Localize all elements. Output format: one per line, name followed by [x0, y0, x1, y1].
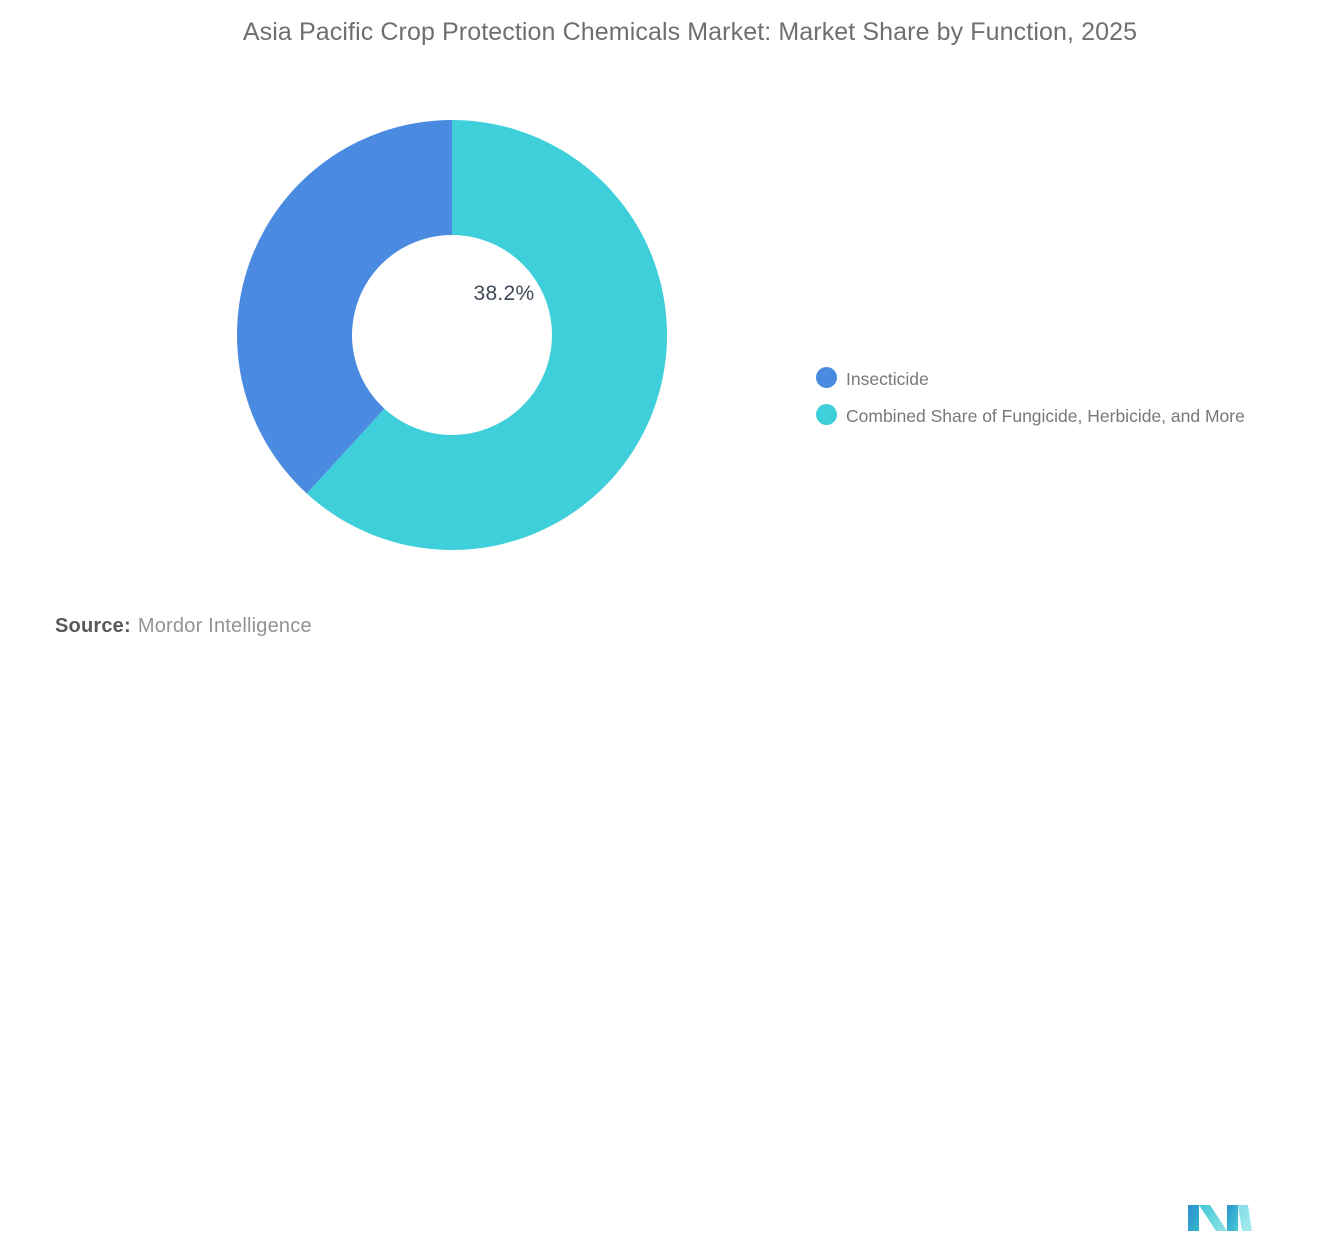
- source-value: Mordor Intelligence: [138, 615, 312, 637]
- legend-item-combined-share[interactable]: Combined Share of Fungicide, Herbicide, …: [816, 402, 1286, 430]
- legend-swatch-icon-insecticide: [816, 367, 837, 388]
- legend-label-combined-share: Combined Share of Fungicide, Herbicide, …: [846, 402, 1245, 430]
- legend-label-insecticide: Insecticide: [846, 365, 929, 393]
- mordor-intelligence-logo-icon: [1186, 1198, 1254, 1236]
- donut-chart: [237, 120, 667, 550]
- source-attribution: Source:Mordor Intelligence: [55, 612, 312, 640]
- chart-legend: Insecticide Combined Share of Fungicide,…: [816, 365, 1286, 439]
- source-label: Source:: [55, 615, 131, 637]
- chart-plot-area: 38.2% Insecticide Combined Share of Fung…: [0, 95, 905, 565]
- legend-swatch-icon-combined-share: [816, 404, 837, 425]
- page-title: Asia Pacific Crop Protection Chemicals M…: [160, 12, 1220, 52]
- legend-item-insecticide[interactable]: Insecticide: [816, 365, 1286, 393]
- donut-chart-svg: [237, 120, 667, 550]
- chart-footer: Source:Mordor Intelligence: [0, 600, 1320, 660]
